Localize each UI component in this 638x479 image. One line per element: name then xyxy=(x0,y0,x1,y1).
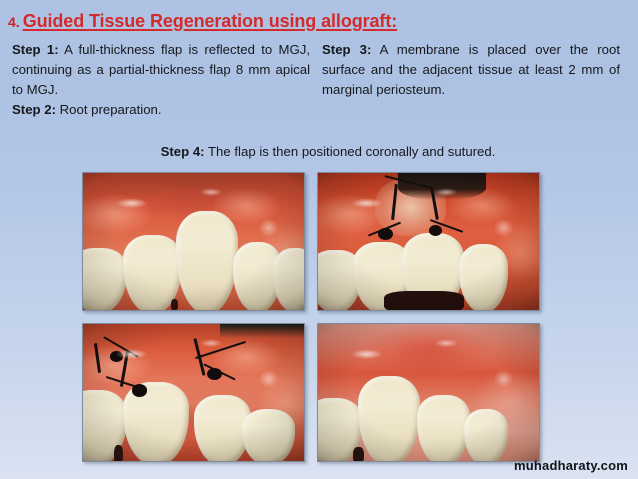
clinical-photo-grid xyxy=(82,172,540,460)
step-4-text: The flap is then positioned coronally an… xyxy=(205,144,496,159)
photo-pre-operative-recession xyxy=(82,172,305,311)
photo-membrane-placement-sutured xyxy=(317,172,540,311)
footer-watermark: muhadharaty.com xyxy=(514,458,628,473)
text-column-right: Step 3: A membrane is placed over the ro… xyxy=(322,40,620,120)
photo-vignette xyxy=(318,173,539,310)
step-2-paragraph: Step 2: Root preparation. xyxy=(12,100,310,120)
step-2-text: Root preparation. xyxy=(56,102,162,117)
body-text-columns: Step 1: A full-thickness flap is reflect… xyxy=(12,40,628,120)
photo-vignette xyxy=(83,173,304,310)
step-3-paragraph: Step 3: A membrane is placed over the ro… xyxy=(322,40,620,100)
step-1-label: Step 1: xyxy=(12,42,59,57)
step-3-label: Step 3: xyxy=(322,42,371,57)
photo-vignette xyxy=(83,324,304,461)
step-4-paragraph: Step 4: The flap is then positioned coro… xyxy=(143,142,496,162)
step-4-label: Step 4: xyxy=(161,144,205,159)
step-1-paragraph: Step 1: A full-thickness flap is reflect… xyxy=(12,40,310,100)
slide-title-number: 4. xyxy=(8,14,20,30)
step-4-line: Step 4: The flap is then positioned coro… xyxy=(0,142,638,162)
step-2-label: Step 2: xyxy=(12,102,56,117)
photo-vignette xyxy=(318,324,539,461)
text-column-left: Step 1: A full-thickness flap is reflect… xyxy=(12,40,310,120)
presentation-slide: 4.Guided Tissue Regeneration using allog… xyxy=(0,0,638,479)
photo-post-operative-healing xyxy=(317,323,540,462)
slide-title: 4.Guided Tissue Regeneration using allog… xyxy=(8,11,397,32)
slide-title-text: Guided Tissue Regeneration using allogra… xyxy=(23,11,397,31)
photo-flap-coronally-positioned xyxy=(82,323,305,462)
